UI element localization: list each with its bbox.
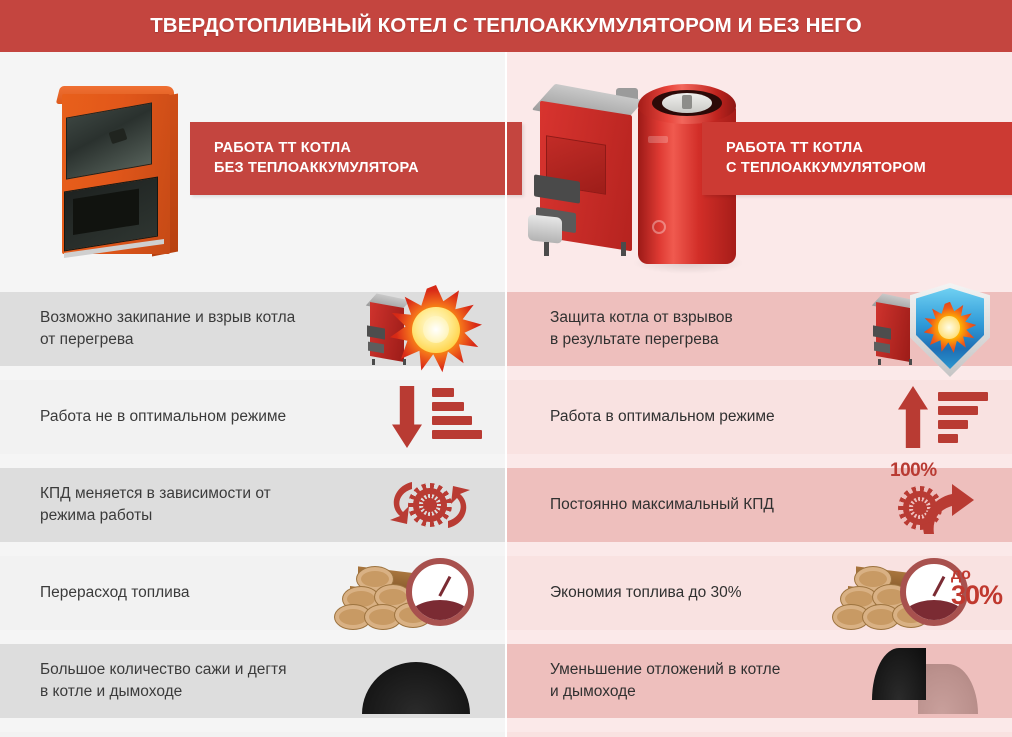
infographic-root: ТВЕРДОТОПЛИВНЫЙ КОТЕЛ С ТЕПЛОАККУМУЛЯТОР… (0, 0, 1012, 737)
row-right-text: Защита котла от взрывов в результате пер… (550, 307, 733, 351)
row-right-text: Уменьшение отложений в котле и дымоходе (550, 659, 780, 703)
row-left-cell: Возможно закипание и взрыв котла от пере… (0, 292, 506, 366)
gear-cycle-arrows-icon (378, 470, 482, 540)
row-left-text: КПД меняется в зависимости от режима раб… (40, 483, 271, 527)
row-right-cell: Защита котла от взрывов в результате пер… (506, 292, 1012, 366)
reduced-soot-pile-icon (862, 648, 982, 714)
soot-pile-icon (356, 648, 476, 714)
up-arrow-increasing-bars-icon (894, 386, 990, 448)
solid-fuel-boiler-orange-icon (48, 80, 188, 270)
left-banner-line1: РАБОТА ТТ КОТЛА (214, 138, 504, 158)
row-right-cell: Работа в оптимальном режиме (506, 380, 1012, 454)
row-left-cell: Срок службы оборудования – 5-8 лет. 5-8л… (0, 732, 506, 737)
row-left-cell: Перерасход топлива (0, 556, 506, 630)
page-title-bar: ТВЕРДОТОПЛИВНЫЙ КОТЕЛ С ТЕПЛОАККУМУЛЯТОР… (0, 0, 1012, 52)
fuel-savings-label: до 30% (951, 568, 1002, 608)
row-left-text: Возможно закипание и взрыв котла от пере… (40, 307, 295, 351)
row-left-text: Перерасход топлива (40, 582, 190, 604)
savings-value: 30% (951, 583, 1002, 608)
column-divider (505, 52, 507, 737)
row-left-text: Большое количество сажи и дегтя в котле … (40, 659, 287, 703)
down-arrow-decreasing-bars-icon (388, 386, 484, 448)
right-banner-line2: С ТЕПЛОАККУМУЛЯТОРОМ (726, 158, 1012, 178)
row-right-cell: Постоянно максимальный КПД 100% (506, 468, 1012, 542)
row-left-cell: Большое количество сажи и дегтя в котле … (0, 644, 506, 718)
boiler-explosion-icon (360, 281, 490, 377)
row-right-cell: Экономия топлива до 30% (506, 556, 1012, 630)
row-right-cell: Уменьшение отложений в котле и дымоходе (506, 644, 1012, 718)
row-right-cell: Срок службы оборудования – 10-20 лет. 10… (506, 732, 1012, 737)
left-banner-line2: БЕЗ ТЕПЛОАККУМУЛЯТОРА (214, 158, 504, 178)
row-left-text: Работа не в оптимальном режиме (40, 406, 286, 428)
right-hero: РАБОТА ТТ КОТЛА С ТЕПЛОАККУМУЛЯТОРОМ (506, 52, 1012, 292)
left-banner: РАБОТА ТТ КОТЛА БЕЗ ТЕПЛОАККУМУЛЯТОРА (190, 122, 522, 195)
firewood-gauge-savings-icon: до 30% (840, 554, 996, 632)
row-left-cell: КПД меняется в зависимости от режима раб… (0, 468, 506, 542)
row-left-cell: Работа не в оптимальном режиме (0, 380, 506, 454)
boiler-shield-protection-icon (866, 281, 996, 377)
page-title: ТВЕРДОТОПЛИВНЫЙ КОТЕЛ С ТЕПЛОАККУМУЛЯТОР… (150, 14, 862, 38)
left-hero: РАБОТА ТТ КОТЛА БЕЗ ТЕПЛОАККУМУЛЯТОРА (0, 52, 506, 292)
gear-up-arrow-icon: 100% (884, 470, 988, 540)
firewood-gauge-icon (334, 554, 490, 632)
row-right-text: Работа в оптимальном режиме (550, 406, 775, 428)
right-banner-line1: РАБОТА ТТ КОТЛА (726, 138, 1012, 158)
row-right-text: Экономия топлива до 30% (550, 582, 742, 604)
efficiency-percent-label: 100% (890, 460, 937, 482)
row-right-text: Постоянно максимальный КПД (550, 494, 774, 516)
right-banner: РАБОТА ТТ КОТЛА С ТЕПЛОАККУМУЛЯТОРОМ (702, 122, 1012, 195)
